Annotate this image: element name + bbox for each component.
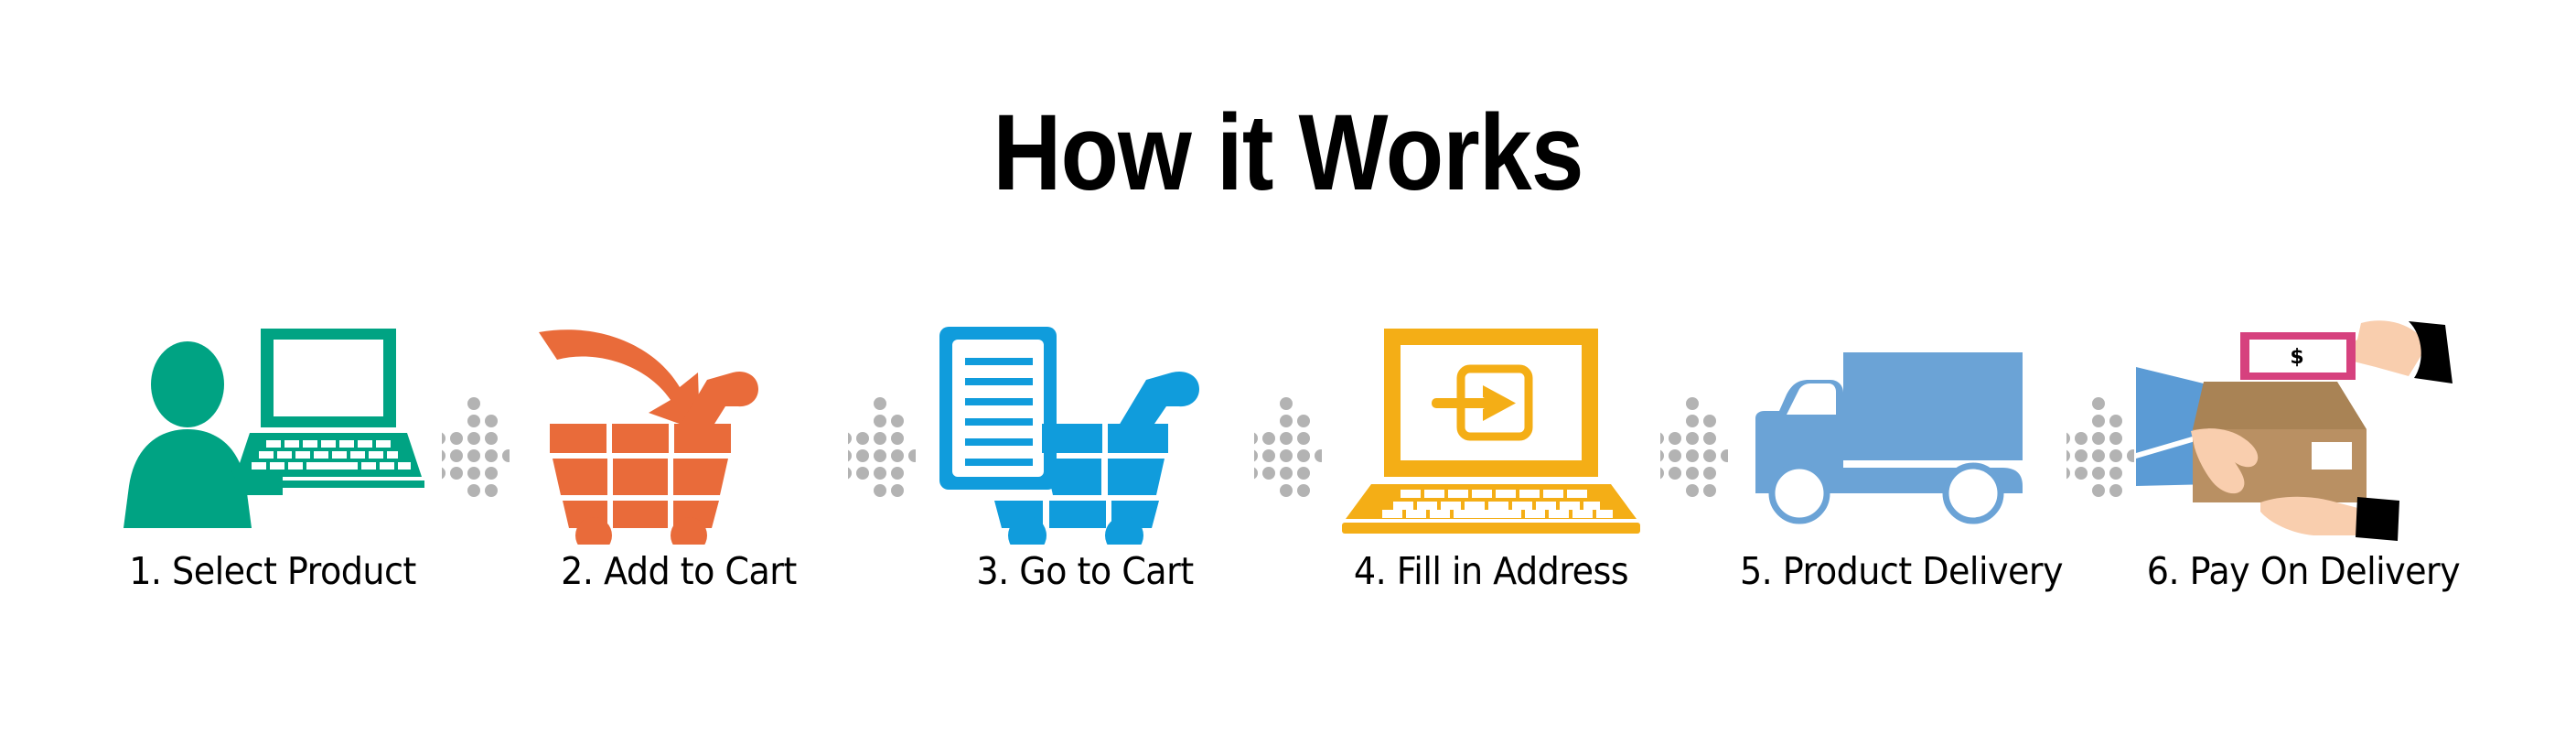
step-6-pay-on-delivery[interactable]: $ 6. Pay On Delivery <box>2134 316 2473 632</box>
separator-1 <box>442 316 510 632</box>
lower-cuff <box>2356 497 2399 541</box>
step-label: 1. Select Product <box>115 549 430 593</box>
dollar-symbol: $ <box>2290 346 2303 369</box>
step-4-fill-in-address[interactable]: 4. Fill in Address <box>1322 316 1660 632</box>
step-label: 4. Fill in Address <box>1334 549 1648 593</box>
delivery-truck-icon <box>1728 316 2066 545</box>
document-and-cart-icon <box>916 316 1254 545</box>
step-5-product-delivery[interactable]: 5. Product Delivery <box>1728 316 2066 632</box>
step-label: 2. Add to Cart <box>521 549 836 593</box>
step-1-select-product[interactable]: 1. Select Product <box>103 316 442 632</box>
separator-4 <box>1660 316 1728 632</box>
infographic-page: How it Works <box>0 0 2576 745</box>
person-with-laptop-icon <box>103 316 442 545</box>
how-it-works-flow: 1. Select Product <box>0 316 2576 632</box>
step-2-add-to-cart[interactable]: 2. Add to Cart <box>510 316 848 632</box>
shipping-label <box>2312 442 2352 470</box>
laptop-with-signin-arrow-icon <box>1322 316 1660 545</box>
shopping-cart-with-arrow-icon <box>510 316 848 545</box>
step-label: 3. Go to Cart <box>928 549 1242 593</box>
separator-5 <box>2066 316 2134 632</box>
separator-3 <box>1254 316 1322 632</box>
box-lid <box>2193 382 2367 429</box>
hands-exchanging-box-and-cash-icon: $ <box>2134 316 2473 545</box>
separator-2 <box>848 316 916 632</box>
page-title: How it Works <box>155 99 2421 207</box>
step-label: 6. Pay On Delivery <box>2146 549 2461 593</box>
lower-hand <box>2260 497 2365 535</box>
step-label: 5. Product Delivery <box>1740 549 2055 593</box>
step-3-go-to-cart[interactable]: 3. Go to Cart <box>916 316 1254 632</box>
